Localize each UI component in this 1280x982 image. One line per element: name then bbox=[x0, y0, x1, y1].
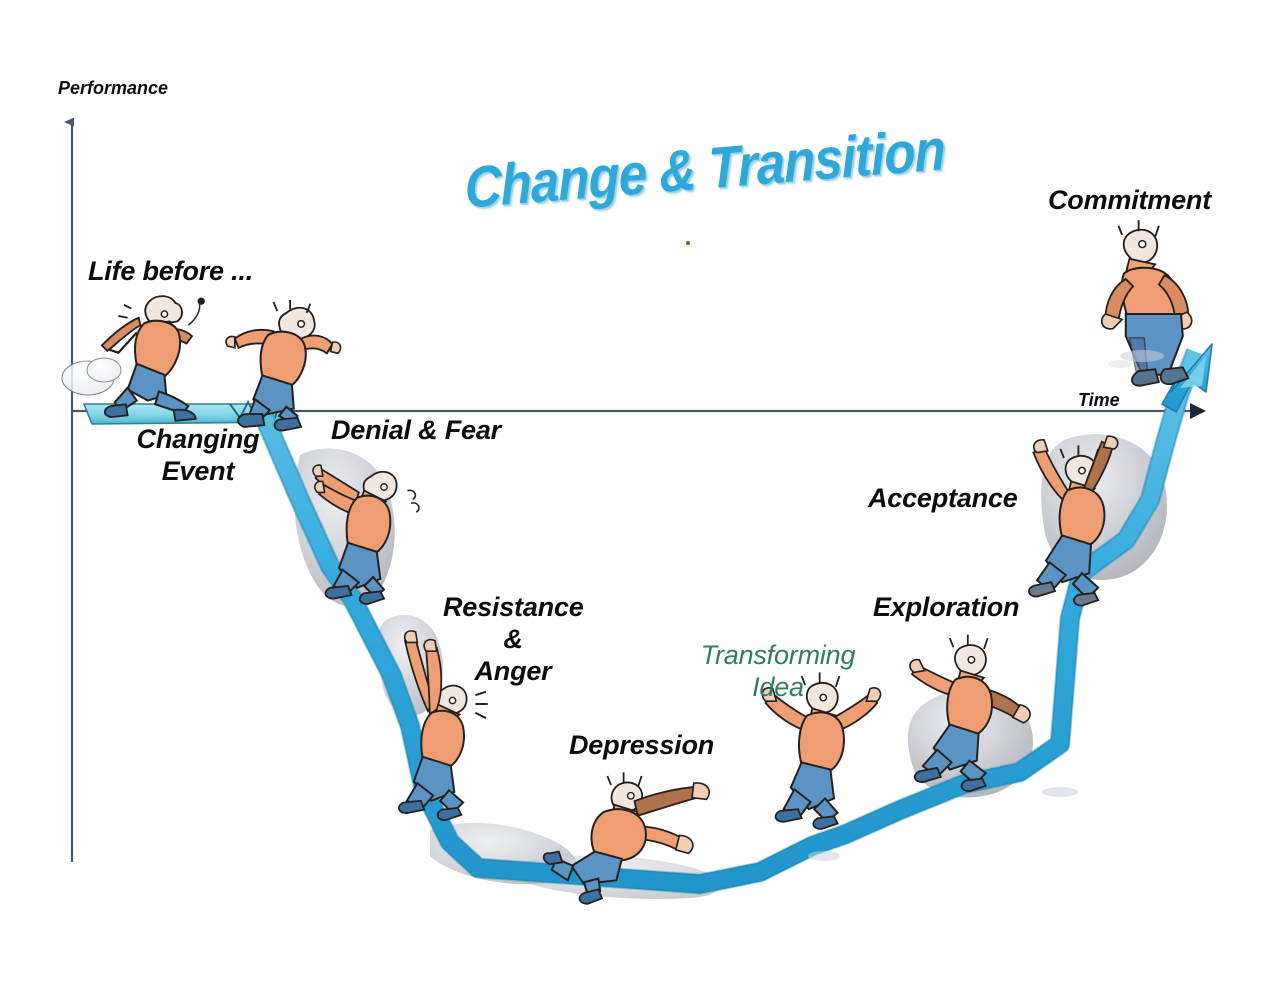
stage-label-life-before: Life before ... bbox=[88, 256, 253, 288]
y-axis-label: Performance bbox=[58, 78, 168, 99]
x-axis-label: Time bbox=[1078, 390, 1120, 411]
stage-label-denial-fear: Denial & Fear bbox=[331, 415, 501, 447]
stage-label-transforming-idea: Transforming Idea bbox=[688, 640, 868, 704]
change-curve-figure: Change & Transition Performance Time Lif… bbox=[0, 0, 1280, 982]
stage-label-depression: Depression bbox=[569, 730, 714, 762]
stage-label-resistance-anger: Resistance & Anger bbox=[443, 592, 583, 688]
stage-label-changing-event: Changing Event bbox=[118, 424, 278, 488]
stage-label-acceptance: Acceptance bbox=[868, 483, 1018, 515]
stage-label-exploration: Exploration bbox=[873, 592, 1019, 624]
stray-dot-mark bbox=[686, 241, 690, 245]
figure-life-before bbox=[102, 296, 205, 421]
x-axis-arrowhead bbox=[1190, 403, 1206, 419]
stage-label-commitment: Commitment bbox=[1048, 185, 1211, 217]
puff-left-2 bbox=[87, 358, 121, 382]
